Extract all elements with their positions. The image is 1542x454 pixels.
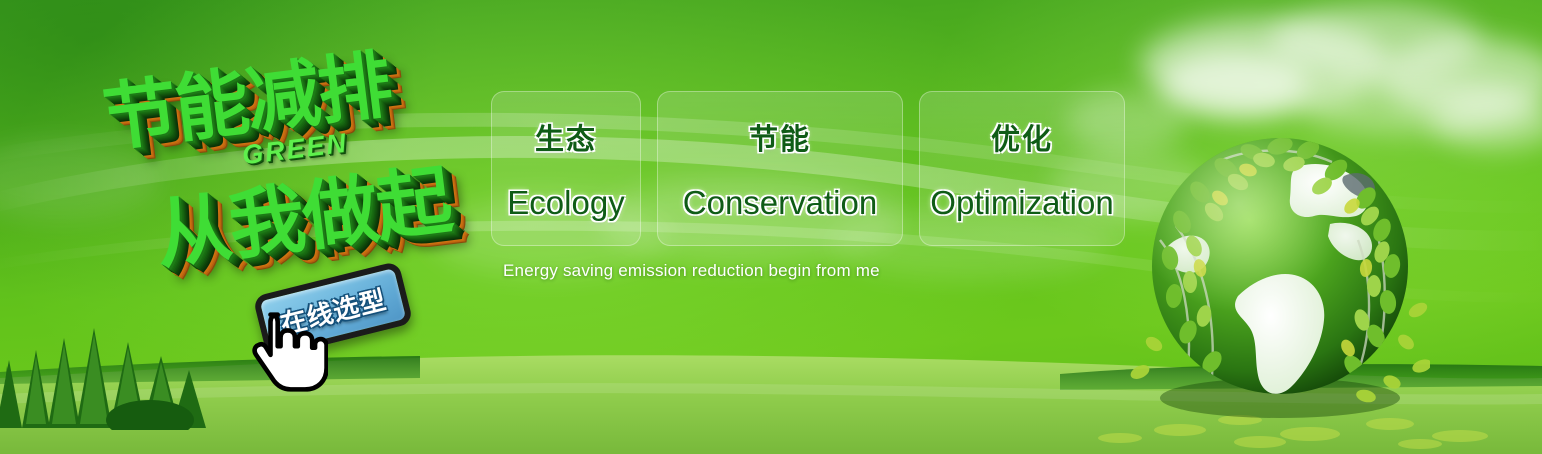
feature-card-optimization[interactable]: 优化 Optimization [919, 91, 1125, 246]
feature-card-conservation[interactable]: 节能 Conservation [657, 91, 903, 246]
feature-card-ecology[interactable]: 生态 Ecology [491, 91, 641, 246]
eco-promo-banner: 节能减排 GREEN 从我做起 在线选型 生态 Ecology 节能 Conse… [0, 0, 1542, 454]
feature-card-list: 生态 Ecology 节能 Conservation 优化 Optimizati… [491, 91, 1125, 246]
logo-line-2: 从我做起 [148, 138, 455, 283]
cloud-icon [1160, 52, 1310, 118]
feature-card-en-label: Optimization [930, 184, 1113, 222]
feature-card-cn-label: 优化 [991, 116, 1053, 158]
cloud-icon [1140, 18, 1390, 110]
banner-tagline: Energy saving emission reduction begin f… [503, 261, 880, 281]
leafy-green-globe-icon [1130, 120, 1430, 420]
cloud-icon [1432, 96, 1542, 150]
feature-card-cn-label: 生态 [535, 116, 597, 158]
brand-logo-3d: 节能减排 GREEN 从我做起 [96, 38, 496, 268]
cloud-icon [1270, 4, 1480, 78]
pointing-hand-cursor-icon [236, 306, 328, 398]
feature-card-cn-label: 节能 [749, 116, 811, 158]
feature-card-en-label: Ecology [507, 184, 624, 222]
cloud-icon [1380, 38, 1542, 118]
feature-card-en-label: Conservation [683, 184, 877, 222]
pine-tree-cluster-icon [0, 320, 210, 430]
